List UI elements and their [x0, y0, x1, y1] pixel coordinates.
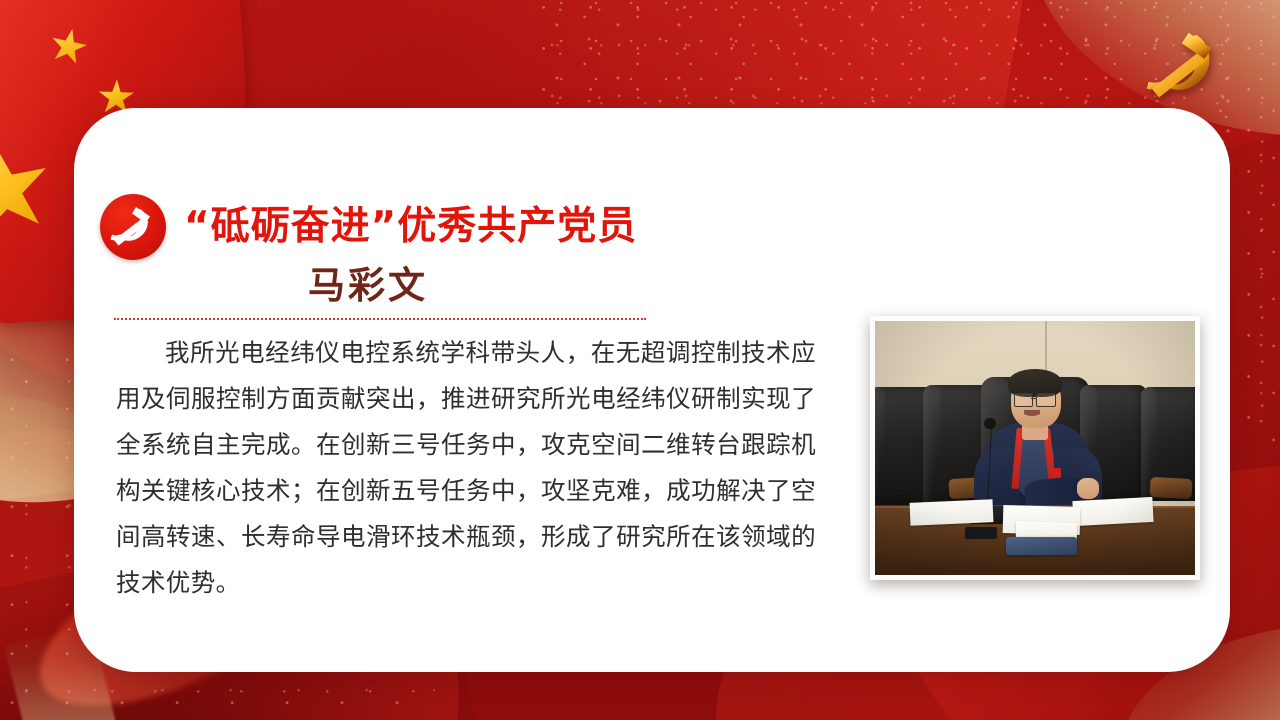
honoree-photo-frame [870, 316, 1200, 580]
achievement-description: 我所光电经纬仪电控系统学科带头人，在无超调控制技术应用及伺服控制方面贡献突出，推… [116, 330, 816, 606]
slide-root: “砥砺奋进”优秀共产党员 马彩文 我所光电经纬仪电控系统学科带头人，在无超调控制… [0, 0, 1280, 720]
content-card: “砥砺奋进”优秀共产党员 马彩文 我所光电经纬仪电控系统学科带头人，在无超调控制… [74, 108, 1230, 672]
flag-star-large [0, 135, 59, 245]
photo-vignette [875, 321, 1195, 575]
honoree-photo [875, 321, 1195, 575]
flag-star-small-1 [47, 25, 90, 68]
dotted-divider [114, 318, 646, 320]
party-badge-glyph [109, 203, 157, 251]
header-block: “砥砺奋进”优秀共产党员 马彩文 [100, 194, 720, 305]
page-title: “砥砺奋进”优秀共产党员 [184, 206, 720, 248]
honoree-name: 马彩文 [100, 266, 720, 305]
header-row: “砥砺奋进”优秀共产党员 [100, 194, 720, 260]
title-block: “砥砺奋进”优秀共产党员 [184, 206, 720, 248]
party-badge-icon [100, 194, 166, 260]
